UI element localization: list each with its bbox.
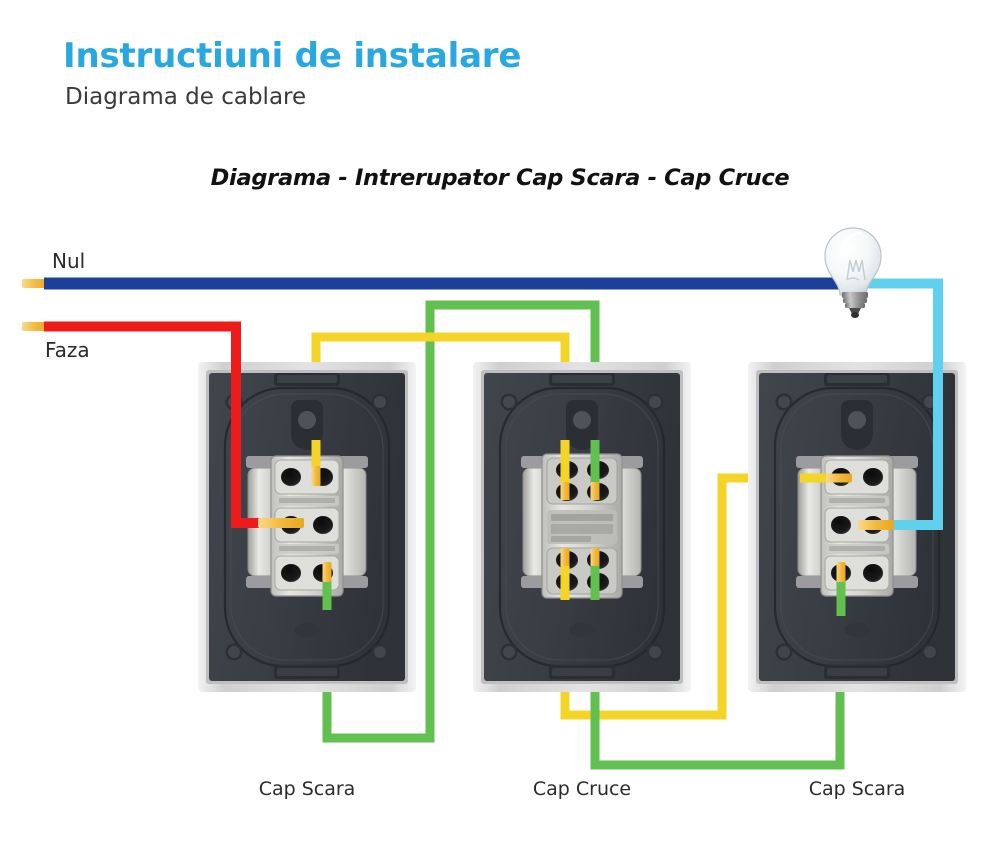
terminal-tip-sw3-bottom [837,562,846,582]
switch-cap-scara-left[interactable] [198,362,416,692]
terminal-tip-sw2-tl [561,482,570,500]
switch-caption-middle: Cap Cruce [473,778,691,800]
light-bulb-icon [825,228,881,318]
wiring-diagram-canvas [0,0,1000,843]
terminal-tip-sw2-br [591,548,600,566]
terminal-tip-sw1-top [312,466,321,486]
terminal-tip-sw1-bottom [323,562,332,582]
switch-caption-right: Cap Scara [748,778,966,800]
live-wire-terminal-tip [258,518,304,528]
terminal-tip-sw2-tr [591,482,600,500]
switch-caption-left: Cap Scara [198,778,416,800]
terminal-tip-sw2-bl [561,548,570,566]
cyan-wire-terminal-tip [858,520,894,530]
terminal-tip-sw3-top [826,474,852,483]
switch-cap-cruce-middle[interactable] [473,362,691,692]
diagram-page: Instructiuni de instalare Diagrama de ca… [0,0,1000,843]
